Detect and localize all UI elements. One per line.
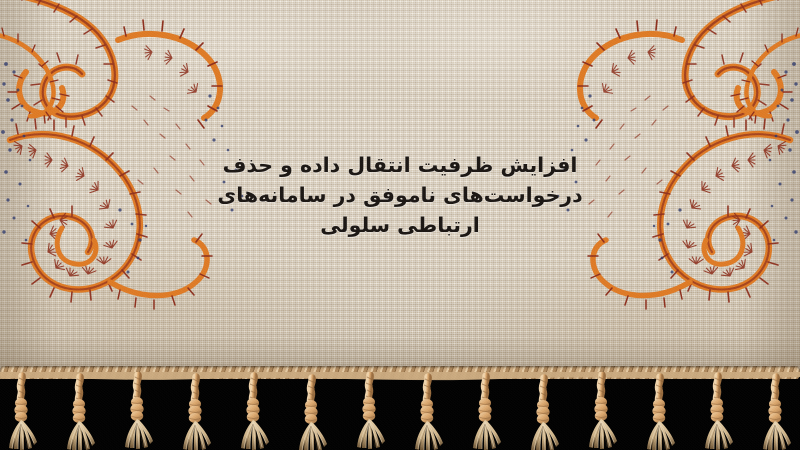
- title-line-2: درخواست‌های ناموفق در سامانه‌های: [0, 180, 800, 210]
- title-line-3: ارتباطی سلولی: [0, 210, 800, 240]
- title-line-1: افزایش ظرفیت انتقال داده و حذف: [0, 150, 800, 180]
- slide-title: افزایش ظرفیت انتقال داده و حذف درخواست‌ه…: [0, 150, 800, 240]
- slide-canvas: افزایش ظرفیت انتقال داده و حذف درخواست‌ه…: [0, 0, 800, 450]
- tassel-fringe: [0, 372, 800, 450]
